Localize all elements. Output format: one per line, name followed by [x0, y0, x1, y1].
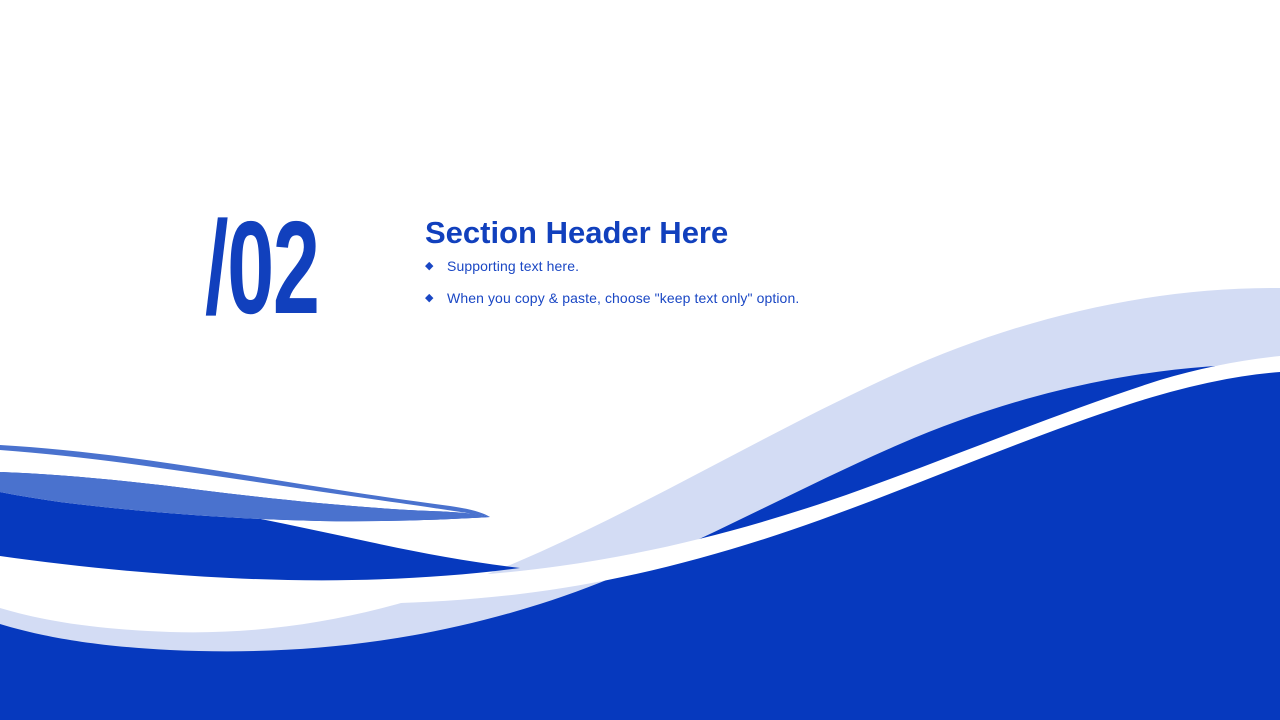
bullet-text: When you copy & paste, choose "keep text… [447, 290, 799, 306]
diamond-bullet-icon: ◆ [425, 290, 447, 306]
section-number: /02 [205, 214, 315, 322]
section-content-block: /02 Section Header Here ◆ Supporting tex… [205, 210, 799, 322]
pale-blue-wave-layer [0, 288, 1280, 720]
bullet-list: ◆ Supporting text here. ◆ When you copy … [425, 258, 799, 306]
wave-background-graphic [0, 0, 1280, 720]
bullet-text: Supporting text here. [447, 258, 579, 274]
bullet-item: ◆ When you copy & paste, choose "keep te… [425, 290, 799, 306]
bullet-item: ◆ Supporting text here. [425, 258, 799, 274]
slide-canvas: /02 Section Header Here ◆ Supporting tex… [0, 0, 1280, 720]
deep-blue-crescent-layer [0, 472, 520, 580]
white-sliver-wave-layer [0, 356, 1280, 604]
section-text-column: Section Header Here ◆ Supporting text he… [425, 210, 799, 306]
deep-blue-wave-layer [0, 364, 1280, 720]
section-title: Section Header Here [425, 216, 799, 249]
diamond-bullet-icon: ◆ [425, 258, 447, 274]
mid-blue-crescent-layer [0, 445, 490, 521]
